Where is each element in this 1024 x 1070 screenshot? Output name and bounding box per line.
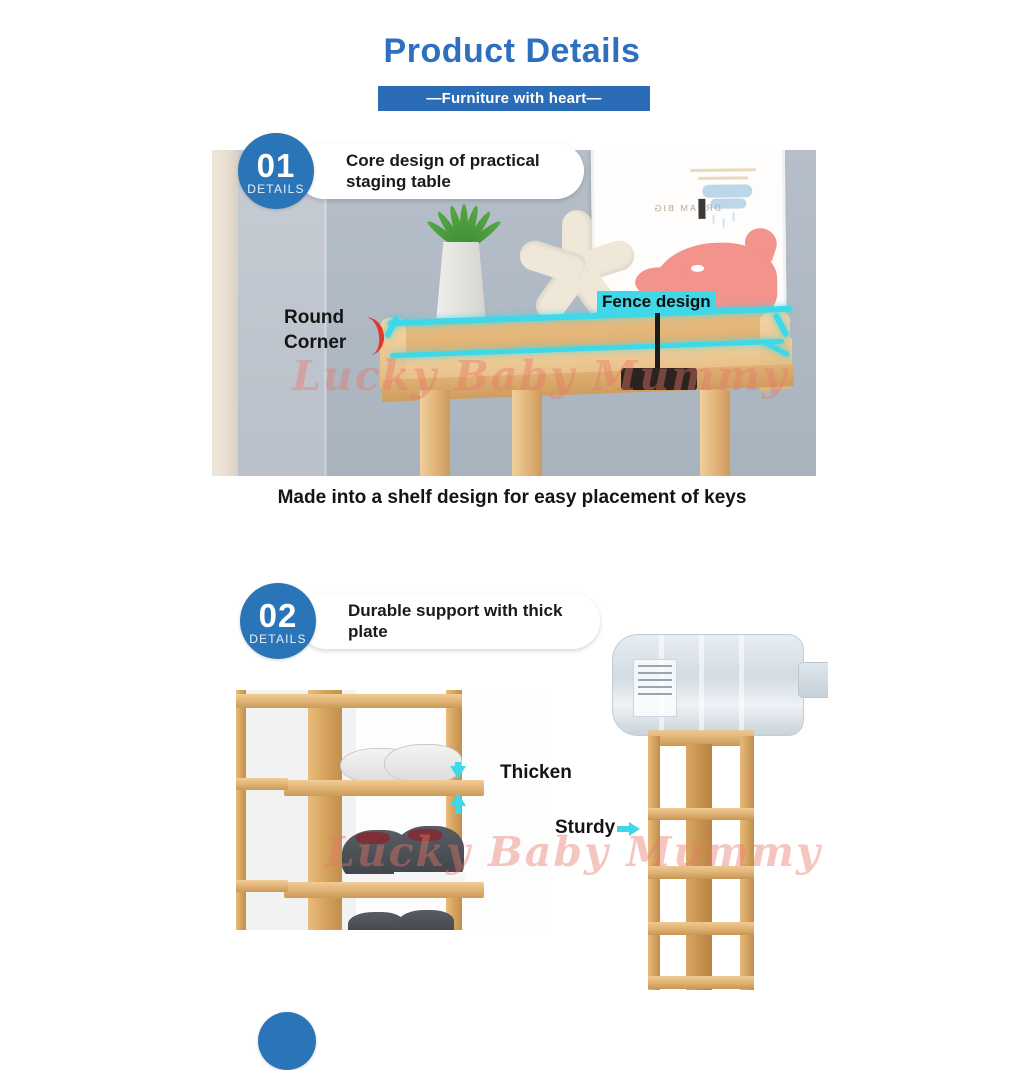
section-heading-01: Core design of practical staging table xyxy=(296,143,584,199)
water-jug xyxy=(612,634,804,736)
label-line xyxy=(638,693,672,695)
section-badge-next xyxy=(258,1012,316,1070)
jug-label xyxy=(633,659,677,717)
label-line xyxy=(638,665,672,667)
section-caption-01: Made into a shelf design for easy placem… xyxy=(0,487,1024,509)
arrow-stem xyxy=(455,762,461,770)
label-line xyxy=(638,679,672,681)
section-heading-text: Durable support with thick plate xyxy=(348,600,574,642)
pointer-base-block xyxy=(621,368,697,390)
jug-rib xyxy=(699,635,704,735)
raindrop xyxy=(732,213,734,222)
shoe xyxy=(348,912,404,930)
wall-edge xyxy=(212,150,238,476)
badge-label: DETAILS xyxy=(249,632,307,646)
annotation-round-corner: Round Corner xyxy=(284,305,346,355)
shoe xyxy=(398,910,454,930)
frame-mark xyxy=(698,199,705,219)
rack3-shelf-3 xyxy=(648,922,754,935)
table-leg xyxy=(420,390,450,476)
jug-rib xyxy=(739,635,744,735)
badge-number: 01 xyxy=(257,151,296,181)
section-heading-02: Durable support with thick plate xyxy=(298,593,600,649)
arrow-up-icon xyxy=(450,793,466,806)
annotation-round-corner-line1: Round xyxy=(284,305,346,330)
section-badge-01: 01 DETAILS xyxy=(238,133,314,209)
table-leg xyxy=(512,390,542,476)
product-details-page: Product Details —Furniture with heart— D… xyxy=(0,0,1024,1024)
arrow-stem xyxy=(455,806,461,814)
rack-side-post xyxy=(236,690,246,930)
decor-line xyxy=(698,176,748,180)
raindrop xyxy=(713,215,715,224)
annotation-thicken: Thicken xyxy=(500,762,572,784)
section-badge-02: 02 DETAILS xyxy=(240,583,316,659)
rack3-shelf-4 xyxy=(648,976,754,989)
section-heading-text: Core design of practical staging table xyxy=(346,150,558,192)
jug-neck xyxy=(798,662,828,698)
photo-water-jug-rack xyxy=(612,624,828,990)
page-title: Product Details xyxy=(0,32,1024,71)
annotation-fence-design: Fence design xyxy=(597,291,716,313)
cloud-shape xyxy=(702,184,752,198)
shoe-collar xyxy=(356,832,390,844)
rack3-shelf-1 xyxy=(648,808,754,820)
rack-shelf-top xyxy=(236,694,462,708)
subtitle-banner: —Furniture with heart— xyxy=(378,86,650,111)
fence-pointer-stem xyxy=(655,312,660,376)
shoe-collar xyxy=(408,829,442,841)
raindrop xyxy=(723,219,725,228)
badge-number: 02 xyxy=(259,601,298,631)
rack-shelf-2 xyxy=(284,882,484,898)
rack-shelf-2-left xyxy=(236,880,288,892)
rack3-left-post xyxy=(648,736,660,990)
label-line xyxy=(638,672,672,674)
table-leg xyxy=(700,390,730,476)
badge-label: DETAILS xyxy=(247,182,305,196)
annotation-round-corner-line2: Corner xyxy=(284,330,346,355)
annotation-sturdy: Sturdy xyxy=(555,817,615,839)
subtitle-text: —Furniture with heart— xyxy=(426,90,601,107)
photo-shoe-rack xyxy=(236,690,552,930)
rack-shelf-1-left xyxy=(236,778,288,790)
rack3-shelf-2 xyxy=(648,866,754,879)
label-line xyxy=(638,686,672,688)
rack3-right-post xyxy=(740,736,754,990)
frame-text: DREAM BIG xyxy=(652,203,721,214)
